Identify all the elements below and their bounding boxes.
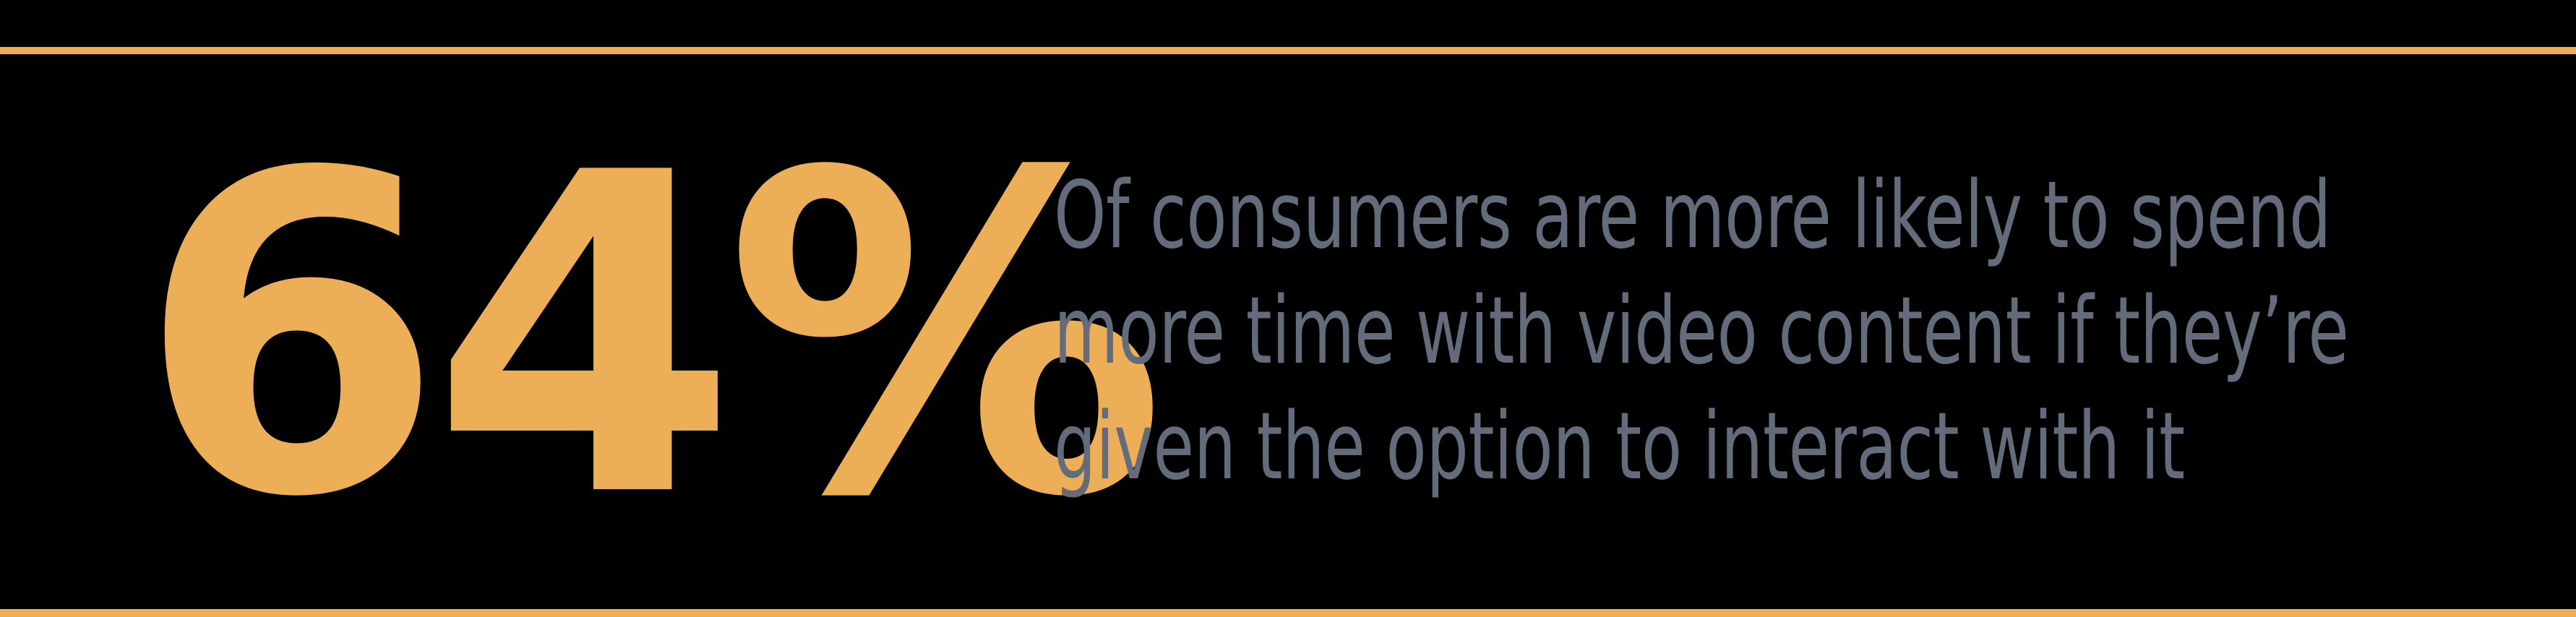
- callout-content: 64% Of consumers are more likely to spen…: [0, 54, 2576, 609]
- statistic-block: 64%: [137, 160, 1034, 504]
- description-line-2: more time with video content if they’re: [1054, 274, 2349, 389]
- bottom-divider-rule: [0, 609, 2576, 617]
- description-line-3: given the option to interact with it: [1054, 389, 2349, 505]
- statistic-value: 64%: [137, 165, 1154, 509]
- top-divider-rule: [0, 47, 2576, 54]
- statistic-callout-banner: 64% Of consumers are more likely to spen…: [0, 0, 2576, 617]
- callout-description: Of consumers are more likely to spend mo…: [1054, 158, 2384, 505]
- description-line-1: Of consumers are more likely to spend: [1054, 158, 2349, 274]
